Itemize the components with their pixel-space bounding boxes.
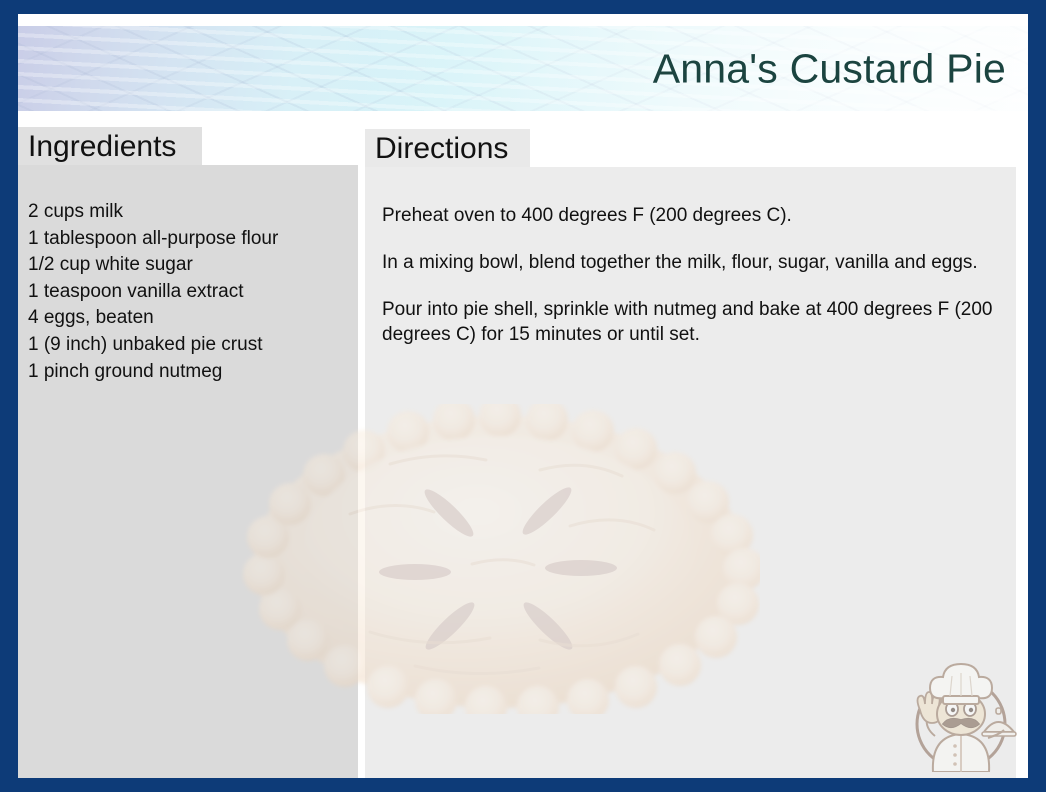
- list-item: 4 eggs, beaten: [28, 305, 348, 332]
- list-item: 1 teaspoon vanilla extract: [28, 279, 348, 306]
- page-title: Anna's Custard Pie: [653, 45, 1006, 92]
- ingredients-panel: 2 cups milk 1 tablespoon all-purpose flo…: [18, 165, 358, 778]
- outer-border: Anna's Custard Pie Ingredients 2 cups mi…: [0, 0, 1046, 792]
- list-item: 1/2 cup white sugar: [28, 252, 348, 279]
- list-item: 1 tablespoon all-purpose flour: [28, 226, 348, 253]
- direction-step: Pour into pie shell, sprinkle with nutme…: [382, 297, 1002, 347]
- directions-steps: Preheat oven to 400 degrees F (200 degre…: [382, 203, 1002, 369]
- list-item: 1 (9 inch) unbaked pie crust: [28, 332, 348, 359]
- list-item: 2 cups milk: [28, 199, 348, 226]
- tab-ingredients[interactable]: Ingredients: [18, 127, 202, 165]
- direction-step: Preheat oven to 400 degrees F (200 degre…: [382, 203, 1002, 228]
- tab-directions[interactable]: Directions: [365, 129, 530, 167]
- ingredients-list: 2 cups milk 1 tablespoon all-purpose flo…: [28, 199, 348, 385]
- list-item: 1 pinch ground nutmeg: [28, 359, 348, 386]
- title-banner: Anna's Custard Pie: [18, 26, 1028, 111]
- direction-step: In a mixing bowl, blend together the mil…: [382, 250, 1002, 275]
- directions-panel: Preheat oven to 400 degrees F (200 degre…: [365, 167, 1016, 778]
- recipe-page: Anna's Custard Pie Ingredients 2 cups mi…: [18, 14, 1028, 778]
